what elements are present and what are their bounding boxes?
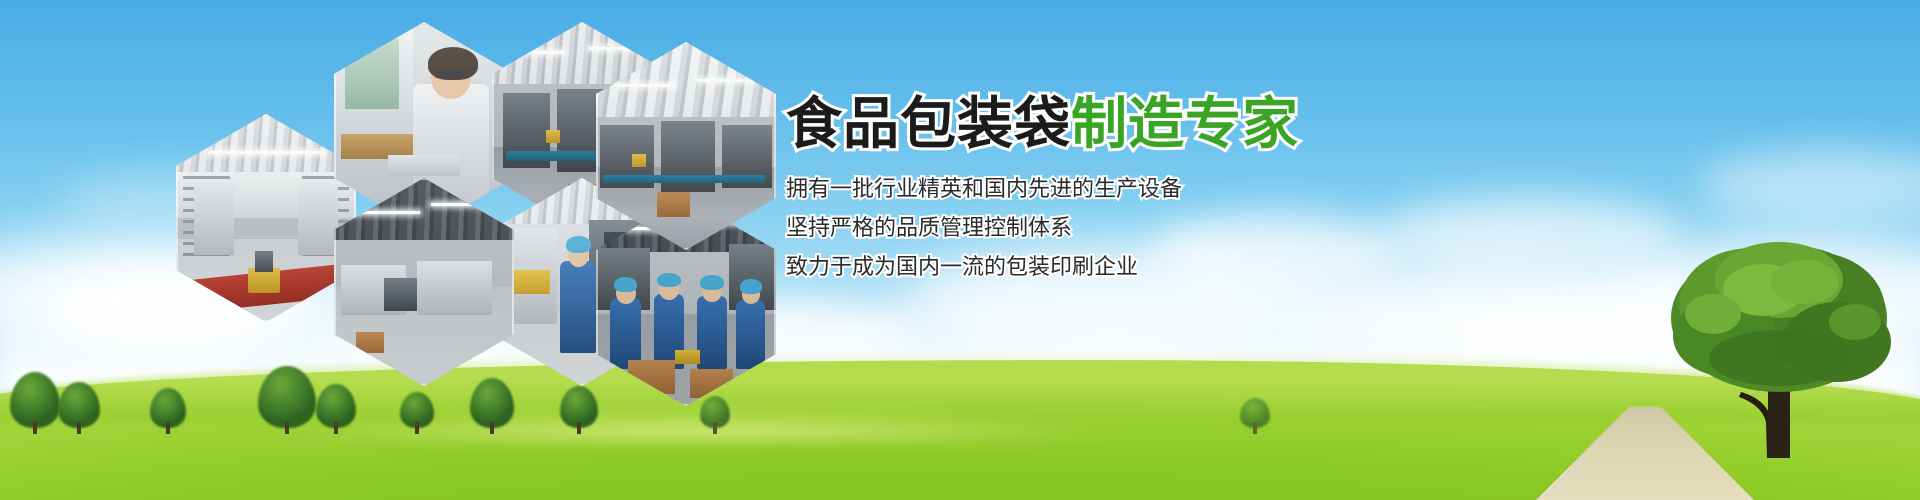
headline-primary: 食品包装袋 xyxy=(786,92,1071,155)
tile-warehouse-aisle[interactable] xyxy=(176,114,356,322)
subtitle-line-3: 致力于成为国内一流的包装印刷企业 xyxy=(786,256,1138,278)
tree xyxy=(316,384,356,428)
tree xyxy=(560,386,598,428)
page-title: 食品包装袋制造专家 xyxy=(786,96,1486,152)
tree xyxy=(150,388,186,428)
tree xyxy=(1655,218,1905,458)
cloud xyxy=(1150,214,1400,294)
cloud xyxy=(1380,196,1680,274)
tree xyxy=(258,366,316,428)
tree-icon xyxy=(1655,218,1905,458)
tree xyxy=(58,382,100,428)
subtitle-line-2: 坚持严格的品质管理控制体系 xyxy=(786,217,1072,239)
tree xyxy=(1240,398,1270,428)
headline-accent: 制造专家 xyxy=(1071,92,1299,155)
cloud xyxy=(1700,150,1920,220)
headline-block: 食品包装袋制造专家 xyxy=(786,96,1486,152)
photo xyxy=(176,114,356,322)
tree xyxy=(700,396,730,428)
tree xyxy=(10,372,60,428)
tree xyxy=(470,378,514,428)
subtitle-line-1: 拥有一批行业精英和国内先进的生产设备 xyxy=(786,178,1182,200)
tree xyxy=(400,392,434,428)
hero-banner: 食品包装袋制造专家 拥有一批行业精英和国内先进的生产设备 坚持严格的品质管理控制… xyxy=(0,0,1920,500)
